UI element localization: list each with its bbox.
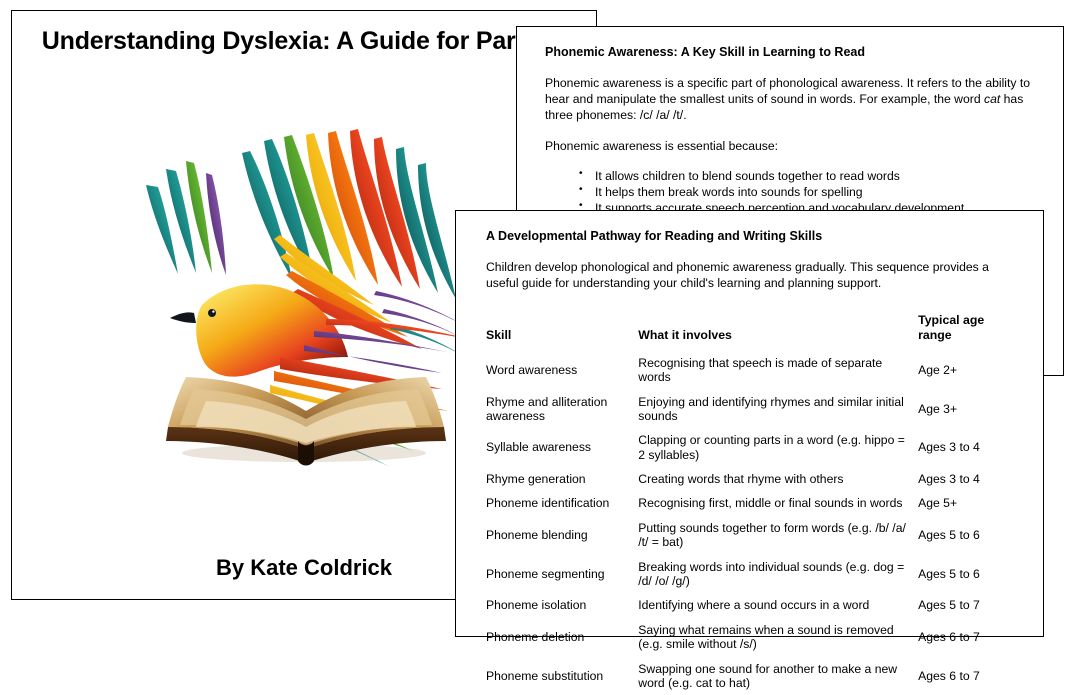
cell-age: Ages 3 to 4 bbox=[918, 428, 1021, 467]
cell-involves: Clapping or counting parts in a word (e.… bbox=[638, 428, 918, 467]
cell-skill: Phoneme segmenting bbox=[486, 555, 638, 594]
phonemic-paragraph-2: Phonemic awareness is essential because: bbox=[545, 138, 1037, 154]
pathway-heading: A Developmental Pathway for Reading and … bbox=[486, 229, 1021, 243]
cell-skill: Phoneme blending bbox=[486, 516, 638, 555]
cell-involves: Recognising first, middle or final sound… bbox=[638, 491, 918, 515]
table-header-row: Skill What it involves Typical age range bbox=[486, 313, 1021, 350]
cell-skill: Phoneme isolation bbox=[486, 593, 638, 617]
cell-skill: Rhyme generation bbox=[486, 467, 638, 491]
crest-feathers bbox=[146, 161, 226, 275]
table-row: Rhyme generation Creating words that rhy… bbox=[486, 467, 1021, 491]
cell-involves: Enjoying and identifying rhymes and simi… bbox=[638, 390, 918, 429]
table-row: Phoneme blending Putting sounds together… bbox=[486, 516, 1021, 555]
table-row: Phoneme substitution Swapping one sound … bbox=[486, 657, 1021, 695]
list-item: It allows children to blend sounds toget… bbox=[579, 168, 1037, 184]
cell-skill: Syllable awareness bbox=[486, 428, 638, 467]
pathway-intro: Children develop phonological and phonem… bbox=[486, 259, 1021, 291]
table-row: Word awareness Recognising that speech i… bbox=[486, 351, 1021, 390]
cell-involves: Recognising that speech is made of separ… bbox=[638, 351, 918, 390]
phonemic-paragraph-1: Phonemic awareness is a specific part of… bbox=[545, 75, 1037, 124]
cell-skill: Word awareness bbox=[486, 351, 638, 390]
cell-age: Age 5+ bbox=[918, 491, 1021, 515]
phonemic-para1-part-a: Phonemic awareness is a specific part of… bbox=[545, 76, 1030, 106]
cell-age: Age 2+ bbox=[918, 351, 1021, 390]
document-page-developmental-pathway[interactable]: A Developmental Pathway for Reading and … bbox=[455, 210, 1044, 637]
list-item: It helps them break words into sounds fo… bbox=[579, 184, 1037, 200]
phonemic-heading: Phonemic Awareness: A Key Skill in Learn… bbox=[545, 45, 1037, 59]
phonemic-para1-emphasis: cat bbox=[984, 92, 1000, 106]
cell-involves: Identifying where a sound occurs in a wo… bbox=[638, 593, 918, 617]
cell-age: Ages 5 to 6 bbox=[918, 555, 1021, 594]
skills-table: Skill What it involves Typical age range… bbox=[486, 313, 1021, 695]
cell-involves: Creating words that rhyme with others bbox=[638, 467, 918, 491]
column-header-skill: Skill bbox=[486, 313, 638, 350]
upper-wing-feathers bbox=[242, 129, 456, 299]
page-title: Understanding Dyslexia: A Guide for Pare… bbox=[12, 27, 596, 56]
cell-involves: Putting sounds together to form words (e… bbox=[638, 516, 918, 555]
table-row: Phoneme identification Recognising first… bbox=[486, 491, 1021, 515]
open-book bbox=[166, 377, 446, 466]
column-header-age: Typical age range bbox=[918, 313, 1021, 350]
table-row: Rhyme and alliteration awareness Enjoyin… bbox=[486, 390, 1021, 429]
cell-age: Ages 5 to 7 bbox=[918, 593, 1021, 617]
cell-age: Ages 3 to 4 bbox=[918, 467, 1021, 491]
cell-age: Ages 6 to 7 bbox=[918, 657, 1021, 695]
table-row: Syllable awareness Clapping or counting … bbox=[486, 428, 1021, 467]
cell-skill: Phoneme substitution bbox=[486, 657, 638, 695]
column-header-involves: What it involves bbox=[638, 313, 918, 350]
cell-age: Age 3+ bbox=[918, 390, 1021, 429]
cell-involves: Swapping one sound for another to make a… bbox=[638, 657, 918, 695]
cell-age: Ages 5 to 6 bbox=[918, 516, 1021, 555]
cell-skill: Rhyme and alliteration awareness bbox=[486, 390, 638, 429]
table-row: Phoneme isolation Identifying where a so… bbox=[486, 593, 1021, 617]
cell-skill: Phoneme identification bbox=[486, 491, 638, 515]
table-row: Phoneme segmenting Breaking words into i… bbox=[486, 555, 1021, 594]
cell-involves: Breaking words into individual sounds (e… bbox=[638, 555, 918, 594]
